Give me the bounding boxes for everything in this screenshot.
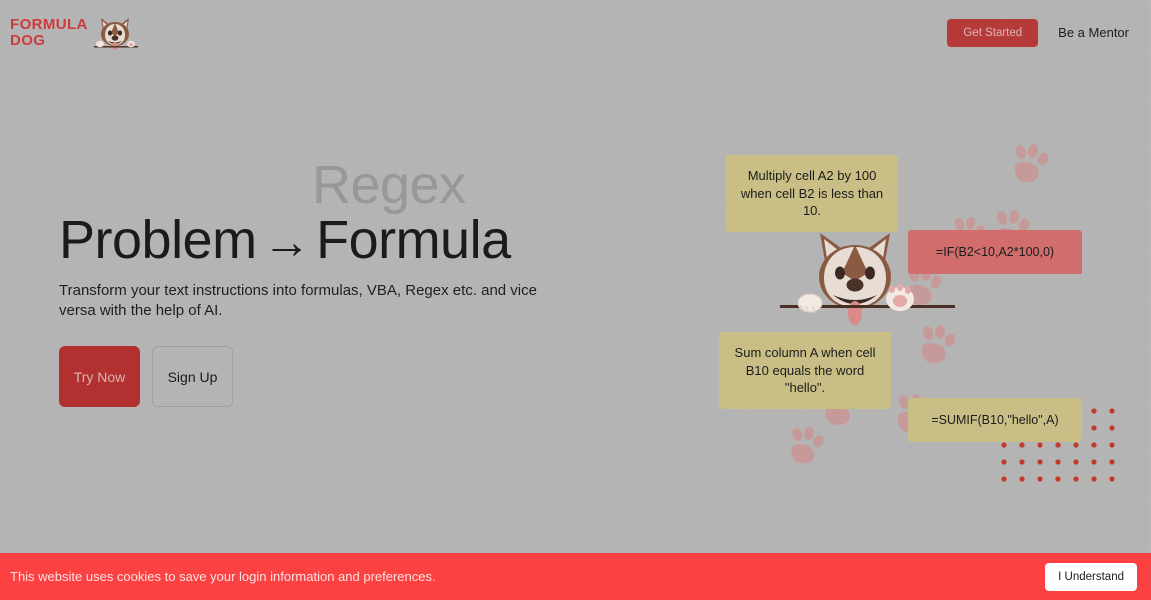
hero-cta-row: Try Now Sign Up <box>59 346 619 407</box>
paw-print-icon <box>1005 142 1053 190</box>
arrow-right-icon: → <box>257 216 317 269</box>
get-started-button[interactable]: Get Started <box>947 19 1038 47</box>
formula-result-1: =IF(B2<10,A2*100,0) <box>908 230 1082 274</box>
hero-headline: Regex Problem→Formula <box>59 165 619 263</box>
husky-dog-logo-icon <box>90 14 142 52</box>
try-now-button[interactable]: Try Now <box>59 346 140 407</box>
site-logo[interactable]: FORMULA DOG <box>10 14 142 52</box>
be-a-mentor-link[interactable]: Be a Mentor <box>1058 25 1129 40</box>
headline-formula-word: Formula <box>316 210 511 270</box>
hero-subtitle: Transform your text instructions into fo… <box>59 281 564 320</box>
hero-illustration: Multiply cell A2 by 100 when cell B2 is … <box>690 120 1151 520</box>
formula-result-2: =SUMIF(B10,"hello",A) <box>908 398 1082 442</box>
landing-page: FORMULA DOG <box>0 0 1151 600</box>
logo-line-2: DOG <box>10 33 88 49</box>
instruction-bubble-1: Multiply cell A2 by 100 when cell B2 is … <box>726 155 898 232</box>
sign-up-button[interactable]: Sign Up <box>152 346 233 407</box>
site-header: FORMULA DOG <box>0 0 1151 65</box>
logo-line-1: FORMULA <box>10 16 88 33</box>
i-understand-button[interactable]: I Understand <box>1045 563 1137 591</box>
instruction-bubble-2: Sum column A when cell B10 equals the wo… <box>719 332 891 409</box>
cookie-message: This website uses cookies to save your l… <box>10 569 436 584</box>
hero-left-column: Regex Problem→Formula Transform your tex… <box>59 165 619 407</box>
headline-main-line: Problem→Formula <box>59 213 511 267</box>
paw-print-icon <box>912 323 960 371</box>
headline-ghost-word: Regex <box>312 158 466 212</box>
cookie-consent-banner: This website uses cookies to save your l… <box>0 553 1151 600</box>
paw-print-icon <box>782 425 828 471</box>
logo-text: FORMULA DOG <box>10 17 88 49</box>
headline-problem-word: Problem <box>59 210 257 270</box>
